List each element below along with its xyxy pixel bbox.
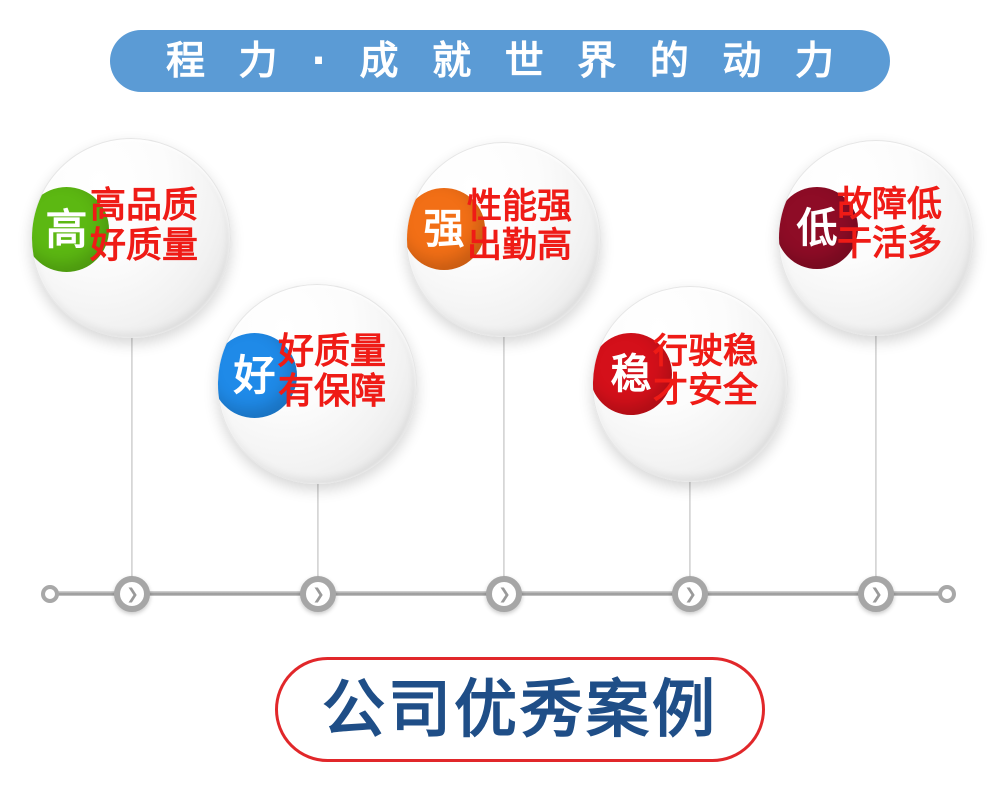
bubble-1-text: 高品质 好质量 bbox=[90, 186, 198, 267]
stem-2 bbox=[317, 476, 319, 592]
bubble-3-line1: 性能强 bbox=[467, 188, 572, 227]
bubble-5[interactable]: 低 故障低 干活多 bbox=[778, 140, 974, 336]
bubble-4-badge-char: 稳 bbox=[611, 354, 652, 395]
bubble-5-text: 故障低 干活多 bbox=[837, 186, 942, 264]
chevron-right-icon: ❯ bbox=[126, 587, 139, 602]
infographic-canvas: 程 力 · 成 就 世 界 的 动 力 高 高品质 好质量 好 好质量 有保障 bbox=[0, 0, 1000, 796]
bubble-1-inner: 高 高品质 好质量 bbox=[32, 139, 230, 337]
bubble-2-inner: 好 好质量 有保障 bbox=[218, 285, 416, 483]
bubble-2-line1: 好质量 bbox=[278, 332, 386, 372]
bubble-2-line2: 有保障 bbox=[278, 372, 386, 412]
bubble-5-inner: 低 故障低 干活多 bbox=[779, 141, 973, 335]
chevron-right-icon: ❯ bbox=[870, 587, 883, 602]
bubble-2-text: 好质量 有保障 bbox=[278, 332, 386, 413]
timeline-cap-left bbox=[41, 585, 59, 603]
timeline-node-4[interactable]: ❯ bbox=[672, 576, 708, 612]
bubble-5-line2: 干活多 bbox=[837, 225, 942, 264]
bubble-3-badge-char: 强 bbox=[424, 209, 465, 250]
chevron-right-icon: ❯ bbox=[498, 587, 511, 602]
bubble-3-line2: 出勤高 bbox=[467, 227, 572, 266]
header-title: 程 力 · 成 就 世 界 的 动 力 bbox=[156, 42, 844, 81]
bubble-1[interactable]: 高 高品质 好质量 bbox=[31, 138, 231, 338]
timeline-node-2[interactable]: ❯ bbox=[300, 576, 336, 612]
timeline-node-1[interactable]: ❯ bbox=[114, 576, 150, 612]
bubble-4-line1: 行驶稳 bbox=[653, 333, 758, 372]
bubble-1-line2: 好质量 bbox=[90, 226, 198, 266]
bubble-5-badge-char: 低 bbox=[797, 208, 838, 249]
bubble-2[interactable]: 好 好质量 有保障 bbox=[217, 284, 417, 484]
bubble-4-inner: 稳 行驶稳 才安全 bbox=[593, 287, 787, 481]
bubble-1-badge-char: 高 bbox=[45, 209, 87, 251]
footer-banner: 公司优秀案例 bbox=[275, 657, 765, 762]
stem-3 bbox=[503, 330, 505, 592]
timeline-cap-right bbox=[938, 585, 956, 603]
bubble-3[interactable]: 强 性能强 出勤高 bbox=[406, 142, 601, 337]
chevron-right-icon: ❯ bbox=[312, 587, 325, 602]
bubble-3-inner: 强 性能强 出勤高 bbox=[407, 143, 600, 336]
chevron-right-icon: ❯ bbox=[684, 587, 697, 602]
stem-1 bbox=[131, 330, 133, 592]
stem-5 bbox=[875, 330, 877, 592]
bubble-4-line2: 才安全 bbox=[653, 372, 758, 411]
bubble-4-text: 行驶稳 才安全 bbox=[653, 333, 758, 411]
timeline-node-5[interactable]: ❯ bbox=[858, 576, 894, 612]
bubble-1-line1: 高品质 bbox=[90, 186, 198, 226]
bubble-4[interactable]: 稳 行驶稳 才安全 bbox=[592, 286, 788, 482]
bubble-5-line1: 故障低 bbox=[837, 186, 942, 225]
stem-4 bbox=[689, 476, 691, 592]
bubble-2-badge-char: 好 bbox=[233, 355, 275, 397]
footer-title: 公司优秀案例 bbox=[322, 678, 718, 741]
header-banner: 程 力 · 成 就 世 界 的 动 力 bbox=[110, 30, 890, 92]
bubble-3-text: 性能强 出勤高 bbox=[467, 188, 572, 266]
timeline-node-3[interactable]: ❯ bbox=[486, 576, 522, 612]
